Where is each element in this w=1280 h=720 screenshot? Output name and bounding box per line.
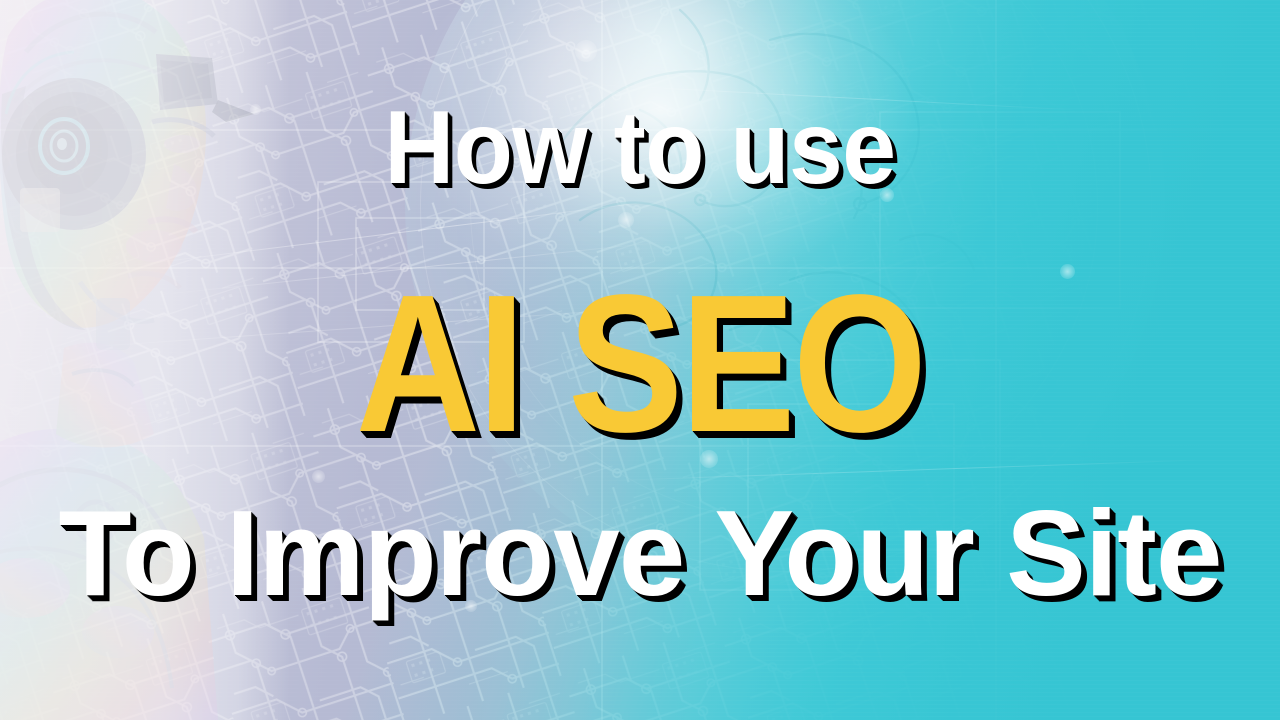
headline-line-accent: AI SEO bbox=[77, 266, 1203, 462]
headline-line-bottom: To Improve Your Site bbox=[13, 492, 1267, 614]
thumbnail-canvas: How to use AI SEO To Improve Your Site bbox=[0, 0, 1280, 720]
headline-block: How to use AI SEO To Improve Your Site bbox=[0, 0, 1280, 720]
headline-line-top: How to use bbox=[45, 96, 1235, 200]
